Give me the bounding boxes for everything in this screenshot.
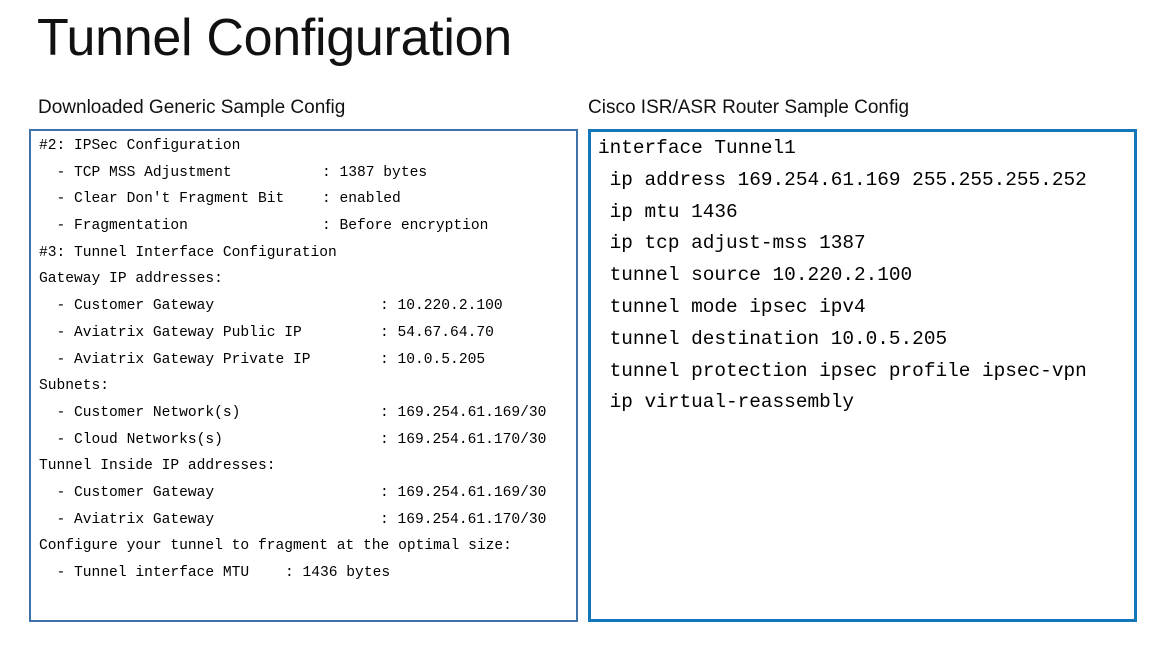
generic-config-line: #2: IPSec Configuration	[39, 133, 574, 160]
generic-config-line: Gateway IP addresses:	[39, 266, 574, 293]
generic-config-line-label: - Clear Don't Fragment Bit	[39, 186, 284, 213]
generic-config-line: - Aviatrix Gateway Private IP: 10.0.5.20…	[39, 347, 574, 374]
cisco-config-line: ip tcp adjust-mss 1387	[598, 228, 1130, 260]
generic-config-line: - TCP MSS Adjustment: 1387 bytes	[39, 160, 574, 187]
generic-config-line: - Aviatrix Gateway Public IP: 54.67.64.7…	[39, 320, 574, 347]
generic-config-line: - Customer Network(s): 169.254.61.169/30	[39, 400, 574, 427]
generic-config-line-label: Gateway IP addresses:	[39, 266, 223, 293]
generic-config-line-label: - TCP MSS Adjustment	[39, 160, 232, 187]
generic-config-line: - Cloud Networks(s): 169.254.61.170/30	[39, 427, 574, 454]
page-title: Tunnel Configuration	[37, 8, 512, 69]
generic-config-line-value: : Before encryption	[322, 213, 488, 240]
generic-config-line: Configure your tunnel to fragment at the…	[39, 533, 574, 560]
generic-config-line-label: - Fragmentation	[39, 213, 188, 240]
cisco-config-line: ip address 169.254.61.169 255.255.255.25…	[598, 165, 1130, 197]
generic-config-line-value: : 10.0.5.205	[380, 347, 485, 374]
generic-config-line: Tunnel Inside IP addresses:	[39, 453, 574, 480]
cisco-config-line: ip virtual-reassembly	[598, 387, 1130, 419]
generic-config-line-label: - Customer Network(s)	[39, 400, 240, 427]
cisco-config-code-box: interface Tunnel1 ip address 169.254.61.…	[588, 129, 1137, 622]
generic-config-line-value: : 169.254.61.169/30	[380, 400, 546, 427]
generic-config-line-value: : 169.254.61.169/30	[380, 480, 546, 507]
generic-config-line-label: - Customer Gateway	[39, 293, 214, 320]
generic-config-line: - Customer Gateway: 169.254.61.169/30	[39, 480, 574, 507]
generic-config-line-value: : 169.254.61.170/30	[380, 427, 546, 454]
generic-config-line-label: - Aviatrix Gateway Private IP	[39, 347, 311, 374]
generic-config-code-box: #2: IPSec Configuration - TCP MSS Adjust…	[29, 129, 578, 622]
cisco-config-line: tunnel destination 10.0.5.205	[598, 324, 1130, 356]
generic-config-line-label: #2: IPSec Configuration	[39, 133, 240, 160]
generic-config-line-label: Subnets:	[39, 373, 109, 400]
generic-config-line-label: - Aviatrix Gateway	[39, 507, 214, 534]
cisco-config-line: interface Tunnel1	[598, 133, 1130, 165]
generic-config-line-label: - Customer Gateway	[39, 480, 214, 507]
generic-config-line: Subnets:	[39, 373, 574, 400]
right-column-heading: Cisco ISR/ASR Router Sample Config	[588, 97, 909, 120]
generic-config-line-label: #3: Tunnel Interface Configuration	[39, 240, 337, 267]
generic-config-line-value: : enabled	[322, 186, 401, 213]
cisco-config-line: tunnel source 10.220.2.100	[598, 260, 1130, 292]
generic-config-line-label: - Aviatrix Gateway Public IP	[39, 320, 302, 347]
generic-config-line: - Fragmentation: Before encryption	[39, 213, 574, 240]
generic-config-line-label: - Tunnel interface MTU	[39, 560, 249, 587]
generic-config-line-label: Tunnel Inside IP addresses:	[39, 453, 275, 480]
cisco-config-line: tunnel mode ipsec ipv4	[598, 292, 1130, 324]
generic-config-line: - Customer Gateway: 10.220.2.100	[39, 293, 574, 320]
generic-config-line-value: : 1387 bytes	[322, 160, 427, 187]
generic-config-line-label: Configure your tunnel to fragment at the…	[39, 533, 512, 560]
generic-config-line-list: #2: IPSec Configuration - TCP MSS Adjust…	[39, 133, 574, 587]
cisco-config-line: tunnel protection ipsec profile ipsec-vp…	[598, 356, 1130, 388]
slide-canvas: Tunnel Configuration Downloaded Generic …	[0, 0, 1156, 647]
generic-config-line-label: - Cloud Networks(s)	[39, 427, 223, 454]
generic-config-line: - Clear Don't Fragment Bit: enabled	[39, 186, 574, 213]
generic-config-line: - Aviatrix Gateway: 169.254.61.170/30	[39, 507, 574, 534]
generic-config-line-value: : 1436 bytes	[285, 560, 390, 587]
generic-config-line: #3: Tunnel Interface Configuration	[39, 240, 574, 267]
generic-config-line-value: : 54.67.64.70	[380, 320, 494, 347]
generic-config-line-value: : 10.220.2.100	[380, 293, 503, 320]
left-column-heading: Downloaded Generic Sample Config	[38, 97, 345, 120]
generic-config-line: - Tunnel interface MTU: 1436 bytes	[39, 560, 574, 587]
cisco-config-line-list: interface Tunnel1 ip address 169.254.61.…	[598, 133, 1130, 419]
generic-config-line-value: : 169.254.61.170/30	[380, 507, 546, 534]
cisco-config-line: ip mtu 1436	[598, 197, 1130, 229]
